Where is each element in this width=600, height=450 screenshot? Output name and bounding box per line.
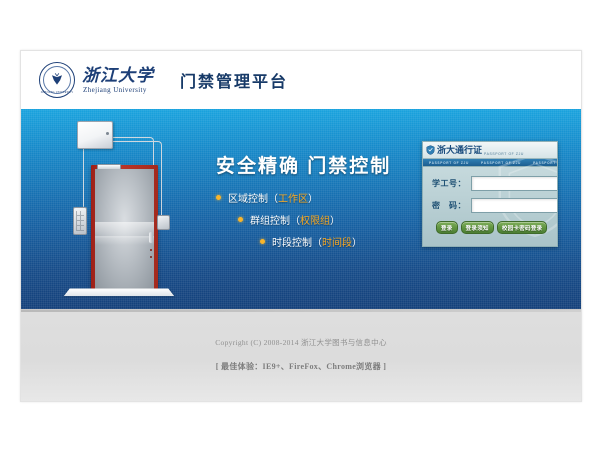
login-title: 浙大通行证 [437,146,482,155]
access-control-box-icon [77,121,113,149]
campus-card-login-button[interactable]: 校园卡密码登录 [497,221,548,234]
field-row-password: 密 码： [430,198,550,213]
page-title: 门禁管理平台 [180,68,288,92]
app-page: ZHEJIANG UNIVERSITY 浙江大学 Zhejiang Univer… [20,50,582,402]
password-input[interactable] [471,198,558,213]
wire-left [83,147,85,207]
browser-support-note: [ 最佳体验：IE9+、FireFox、Chrome浏览器 ] [21,361,581,372]
shield-icon [426,145,435,155]
zju-crest-icon: ZHEJIANG UNIVERSITY [39,62,75,98]
door-highlight-band-2 [95,236,154,245]
banner-copy: 安全精确 门禁控制 区域控制（ 工作区 ） 群组控制（ 权限组 ） 时段控制（ [216,151,391,256]
student-staff-id-input[interactable] [471,176,558,191]
feature-label: 区域控制（ [228,190,278,205]
strip-text: PASSPORT OF ZJU [423,161,475,165]
footer-divider [21,310,581,312]
student-staff-id-label: 学工号： [430,178,466,189]
feature-highlight: 时间段 [322,234,352,249]
crest-bird-glyph [50,72,65,87]
banner-headline: 安全精确 门禁控制 [216,151,391,178]
site-footer: Copyright (C) 2008-2014 浙江大学图书与信息中心 [ 最佳… [21,309,581,402]
security-door-panel [95,169,154,289]
hero-banner: 安全精确 门禁控制 区域控制（ 工作区 ） 群组控制（ 权限组 ） 时段控制（ [21,109,581,309]
field-row-id: 学工号： [430,176,550,191]
feature-item-area-control: 区域控制（ 工作区 ） [216,190,391,205]
feature-suffix: ） [352,234,362,249]
password-label: 密 码： [430,200,466,211]
feature-label: 群组控制（ [250,212,300,227]
security-door-frame [91,165,158,289]
site-header: ZHEJIANG UNIVERSITY 浙江大学 Zhejiang Univer… [21,51,581,109]
feature-highlight: 权限组 [300,212,330,227]
feature-item-time-control: 时段控制（ 时间段 ） [260,234,391,249]
door-handle-icon [149,232,153,243]
university-name-block: 浙江大学 Zhejiang University [75,67,154,94]
login-form: 学工号： 密 码： 登录 登录须知 校园卡密码登录 [423,167,557,234]
feature-item-group-control: 群组控制（ 权限组 ） [238,212,391,227]
card-reader-icon [157,215,170,230]
university-logo[interactable]: ZHEJIANG UNIVERSITY 浙江大学 Zhejiang Univer… [39,62,154,98]
feature-list: 区域控制（ 工作区 ） 群组控制（ 权限组 ） 时段控制（ 时间段 ） [216,190,391,249]
keypad-reader-icon [73,207,87,235]
feature-highlight: 工作区 [278,190,308,205]
bullet-dot-icon [216,195,221,200]
feature-suffix: ） [308,190,318,205]
university-name-cn: 浙江大学 [82,67,154,84]
door-lock-dot-2 [150,256,152,258]
crest-ring-text: ZHEJIANG UNIVERSITY [40,91,74,94]
login-subtitle: PASSPORT OF ZJU [484,152,524,156]
university-name-en: Zhejiang University [83,86,154,94]
login-panel-header: 浙大通行证 PASSPORT OF ZJU [423,142,557,159]
feature-suffix: ） [330,212,340,227]
login-panel: 浙大通行证 PASSPORT OF ZJU PASSPORT OF ZJU PA… [422,141,558,247]
login-button[interactable]: 登录 [436,221,458,234]
copyright-text: Copyright (C) 2008-2014 浙江大学图书与信息中心 [21,337,581,348]
bullet-dot-icon [260,239,265,244]
floor-plate [64,288,174,295]
login-notice-button[interactable]: 登录须知 [461,221,494,234]
bullet-dot-icon [238,217,243,222]
door-illustration [51,119,181,299]
feature-label: 时段控制（ [272,234,322,249]
login-button-group: 登录 登录须知 校园卡密码登录 [430,220,550,234]
